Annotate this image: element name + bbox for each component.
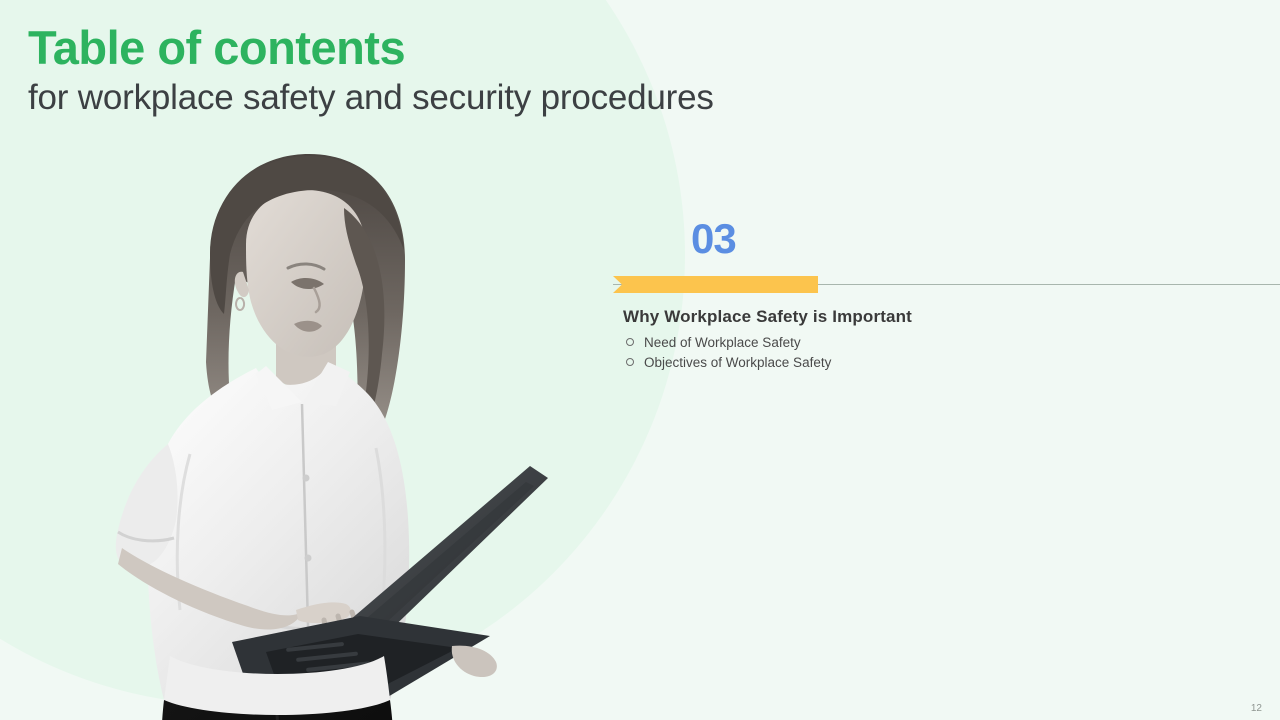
yellow-arrow-bar [613,276,818,293]
toc-entry-block: 03 Why Workplace Safety is Important Nee… [613,218,1280,374]
list-item-label: Objectives of Workplace Safety [644,353,831,373]
section-bullet-list: Need of Workplace Safety Objectives of W… [613,333,1280,374]
slide-header: Table of contents for workplace safety a… [28,22,714,118]
woman-holding-laptop-photo [60,148,560,720]
page-number: 12 [1251,703,1262,714]
hollow-circle-bullet-icon [626,358,634,366]
slide-canvas: Table of contents for workplace safety a… [0,0,1280,720]
hollow-circle-bullet-icon [626,338,634,346]
list-item: Objectives of Workplace Safety [626,353,1280,373]
list-item-label: Need of Workplace Safety [644,333,801,353]
section-number: 03 [691,218,1280,260]
list-item: Need of Workplace Safety [626,333,1280,353]
accent-bar-row [613,276,1280,293]
page-subtitle: for workplace safety and security proced… [28,78,714,119]
page-title: Table of contents [28,22,714,75]
section-heading: Why Workplace Safety is Important [623,307,1280,327]
